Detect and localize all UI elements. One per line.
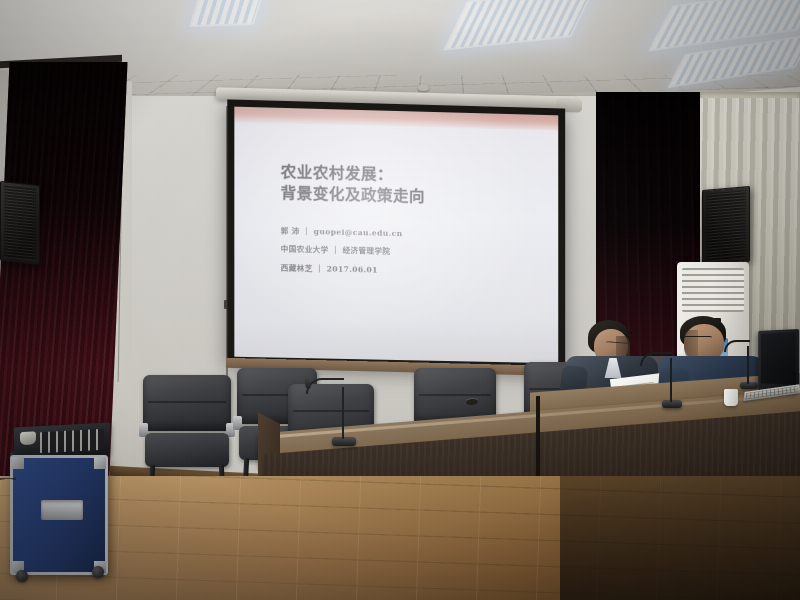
chair-backrest [143, 375, 231, 431]
microphone-gooseneck-curve [306, 378, 344, 394]
mixer-channel-strips[interactable] [40, 429, 104, 453]
monitor-screen [761, 332, 796, 384]
conference-room-photo: 农业农村发展： 背景变化及政策走向 郭 沛 ｜ guopei@cau.edu.c… [0, 0, 800, 600]
flight-case-corner [12, 457, 24, 469]
mixer-knob-cluster[interactable] [20, 431, 36, 445]
eyeglasses-icon [684, 336, 712, 342]
chair-seat [145, 433, 229, 467]
desktop-monitor[interactable] [758, 329, 799, 393]
audio-cables [0, 478, 16, 576]
gooseneck-microphone-2[interactable] [662, 400, 682, 408]
flight-case-caster [16, 570, 28, 582]
projection-screen-surface: 农业农村发展： 背景变化及政策走向 郭 沛 ｜ guopei@cau.edu.c… [234, 107, 558, 364]
microphone-neck [342, 387, 344, 439]
audio-mixer-console[interactable] [14, 422, 110, 459]
wall-speaker-right [702, 186, 750, 266]
microphone-gooseneck-curve [724, 340, 750, 352]
ac-vent-louvers [682, 268, 744, 312]
flight-case-caster [92, 566, 104, 578]
slide-subtitle-block: 郭 沛 ｜ guopei@cau.edu.cn 中国农业大学 ｜ 经济管理学院 … [281, 222, 559, 284]
blue-flight-case [10, 455, 108, 575]
speaker-grille-icon [706, 190, 746, 261]
gooseneck-microphone-1[interactable] [332, 437, 356, 446]
paper-cup[interactable] [724, 389, 738, 406]
microphone-gooseneck-curve [640, 352, 672, 366]
ceiling-smoke-detector [418, 84, 429, 91]
gooseneck-microphone-3[interactable] [740, 382, 758, 389]
floor-shadow-right [560, 476, 800, 600]
flight-case-handle[interactable] [41, 500, 83, 520]
projection-screen: 农业农村发展： 背景变化及政策走向 郭 沛 ｜ guopei@cau.edu.c… [227, 99, 565, 369]
person-face-shadow [684, 330, 698, 358]
slide-title: 农业农村发展： 背景变化及政策走向 [281, 162, 559, 212]
flight-case-corner [94, 457, 106, 469]
slide-content: 农业农村发展： 背景变化及政策走向 郭 沛 ｜ guopei@cau.edu.c… [234, 107, 558, 364]
wall-speaker-left [0, 181, 40, 265]
speaker-grille-icon [4, 185, 36, 260]
